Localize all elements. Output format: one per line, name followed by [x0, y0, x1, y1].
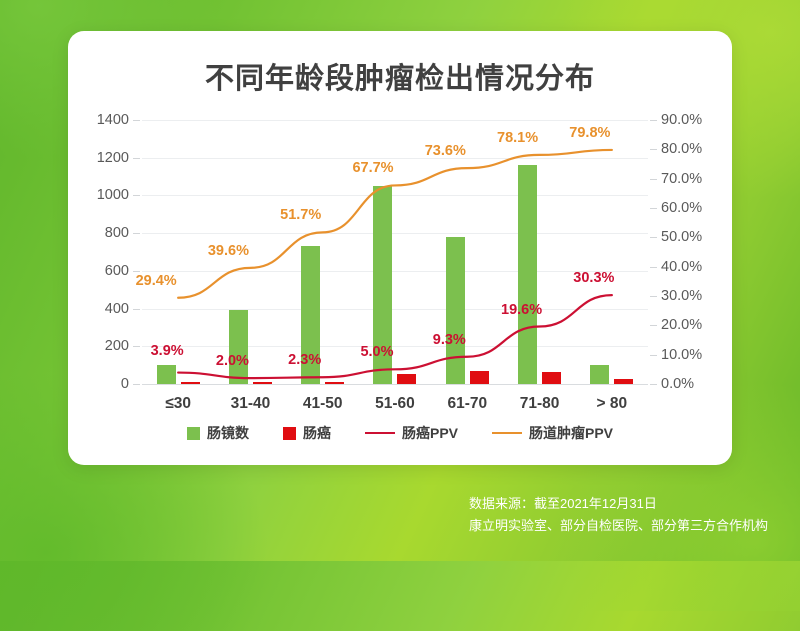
y-tick-right: 80.0%	[661, 141, 702, 157]
y-tick-left: 400	[69, 301, 129, 317]
data-label: 73.6%	[425, 143, 466, 159]
y-tick-right: 40.0%	[661, 259, 702, 275]
y-tick-mark-left	[133, 384, 140, 385]
data-label: 2.0%	[216, 353, 249, 369]
y-tick-left: 600	[69, 263, 129, 279]
x-tick-label: 71-80	[503, 395, 575, 413]
y-tick-left: 200	[69, 338, 129, 354]
data-label: 2.3%	[288, 352, 321, 368]
x-tick-label: 41-50	[287, 395, 359, 413]
x-tick-label: 51-60	[359, 395, 431, 413]
y-tick-right: 50.0%	[661, 229, 702, 245]
data-label: 9.3%	[433, 332, 466, 348]
y-tick-mark-right	[650, 149, 657, 150]
y-tick-left: 1400	[69, 112, 129, 128]
x-tick-label: > 80	[576, 395, 648, 413]
legend-label: 肠镜数	[207, 423, 249, 443]
y-tick-mark-left	[133, 233, 140, 234]
plot-area: 0200400600800100012001400 0.0%10.0%20.0%…	[142, 120, 648, 384]
y-tick-mark-right	[650, 237, 657, 238]
data-label: 19.6%	[501, 302, 542, 318]
y-tick-mark-right	[650, 120, 657, 121]
legend-item[interactable]: 肠道肿瘤PPV	[492, 423, 613, 443]
y-tick-mark-left	[133, 271, 140, 272]
chart-card: 不同年龄段肿瘤检出情况分布 0200400600800100012001400 …	[68, 31, 732, 465]
source-footer: 数据来源：截至2021年12月31日 康立明实验室、部分自检医院、部分第三方合作…	[469, 493, 768, 536]
data-label: 3.9%	[151, 343, 184, 359]
legend-label: 肠癌	[303, 423, 331, 443]
legend-item[interactable]: 肠镜数	[187, 423, 249, 443]
legend-label: 肠癌PPV	[402, 423, 458, 443]
data-label: 30.3%	[573, 270, 614, 286]
gridline	[142, 384, 648, 385]
y-tick-mark-left	[133, 195, 140, 196]
y-tick-mark-left	[133, 120, 140, 121]
y-tick-mark-right	[650, 384, 657, 385]
y-tick-mark-right	[650, 208, 657, 209]
data-label: 39.6%	[208, 243, 249, 259]
x-tick-label: 31-40	[214, 395, 286, 413]
y-tick-left: 0	[69, 376, 129, 392]
data-label: 51.7%	[280, 207, 321, 223]
data-label: 79.8%	[569, 125, 610, 141]
legend-item[interactable]: 肠癌PPV	[365, 423, 458, 443]
data-label: 5.0%	[360, 344, 393, 360]
y-tick-right: 70.0%	[661, 171, 702, 187]
legend-item[interactable]: 肠癌	[283, 423, 331, 443]
legend-line-icon	[365, 432, 395, 435]
y-tick-right: 90.0%	[661, 112, 702, 128]
chart-legend: 肠镜数肠癌肠癌PPV肠道肿瘤PPV	[68, 423, 732, 443]
legend-label: 肠道肿瘤PPV	[529, 423, 613, 443]
y-tick-left: 1200	[69, 150, 129, 166]
y-tick-mark-right	[650, 325, 657, 326]
source-line-2: 康立明实验室、部分自检医院、部分第三方合作机构	[469, 515, 768, 536]
y-tick-mark-left	[133, 158, 140, 159]
data-label: 67.7%	[352, 160, 393, 176]
y-tick-mark-right	[650, 296, 657, 297]
y-tick-left: 800	[69, 225, 129, 241]
source-line-1: 数据来源：截至2021年12月31日	[469, 493, 768, 514]
y-tick-right: 10.0%	[661, 347, 702, 363]
y-tick-left: 1000	[69, 187, 129, 203]
chart-title: 不同年龄段肿瘤检出情况分布	[68, 55, 732, 97]
y-tick-mark-left	[133, 346, 140, 347]
data-label: 78.1%	[497, 130, 538, 146]
y-tick-right: 30.0%	[661, 288, 702, 304]
y-tick-mark-right	[650, 179, 657, 180]
legend-swatch-icon	[187, 427, 200, 440]
y-tick-mark-right	[650, 267, 657, 268]
y-tick-right: 60.0%	[661, 200, 702, 216]
x-tick-label: ≤30	[142, 395, 214, 413]
legend-swatch-icon	[283, 427, 296, 440]
data-label: 29.4%	[136, 273, 177, 289]
y-tick-right: 20.0%	[661, 317, 702, 333]
y-tick-right: 0.0%	[661, 376, 694, 392]
y-tick-mark-right	[650, 355, 657, 356]
legend-line-icon	[492, 432, 522, 435]
x-tick-label: 61-70	[431, 395, 503, 413]
y-tick-mark-left	[133, 309, 140, 310]
line-series	[178, 150, 612, 298]
